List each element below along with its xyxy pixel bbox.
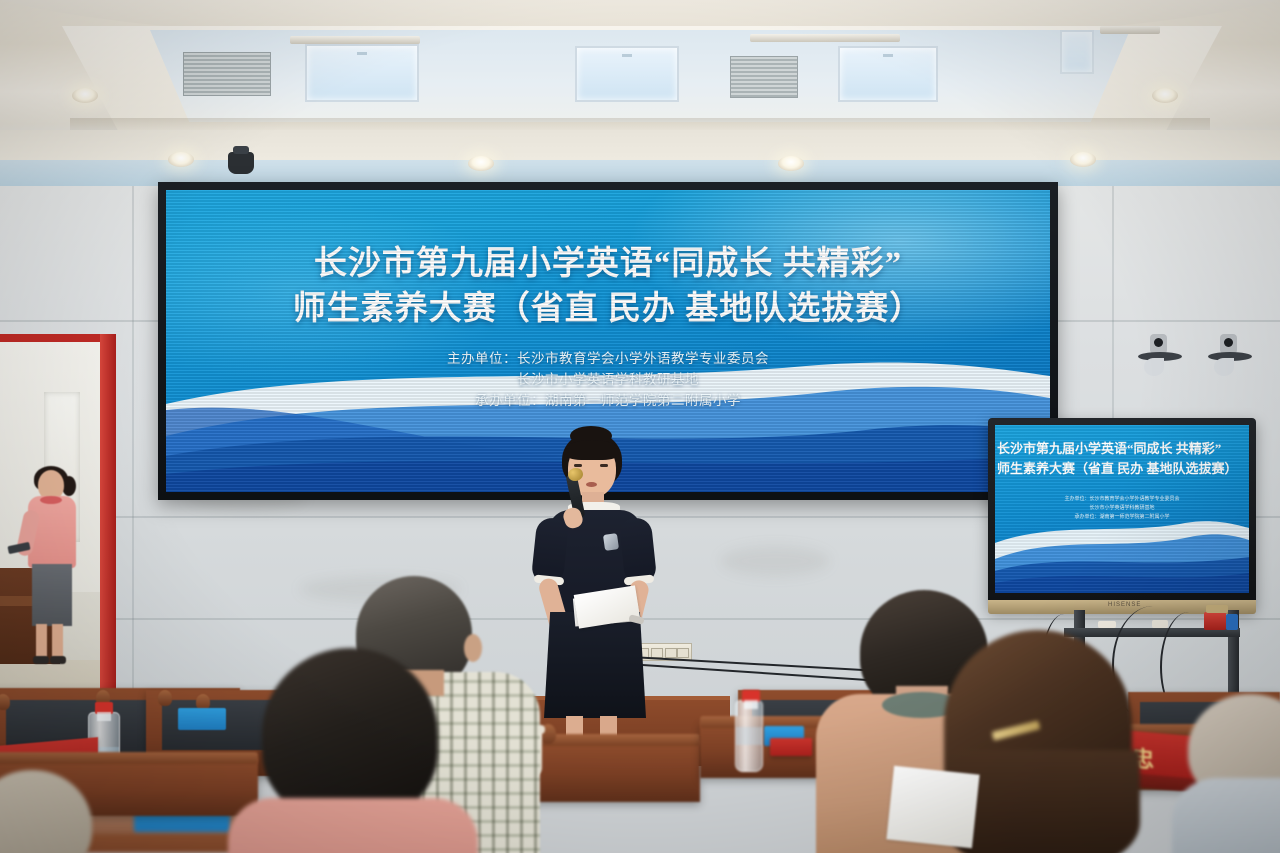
ceiling-strip-light <box>750 34 900 42</box>
collar <box>40 496 62 504</box>
audience-member-dark-bob <box>252 648 462 853</box>
ceiling-downlight <box>168 152 194 167</box>
tv-slide-subtitle-line1: 主办单位：长沙市教育学会小学外语教学专业委员会 <box>995 495 1249 504</box>
slide-subtitle-line3: 承办单位：湖南第一师范学院第二附属小学 <box>166 390 1050 411</box>
tv-slide-title-line2: 师生素养大赛（省直 民办 基地队选拔赛） <box>997 459 1249 479</box>
tv-slide-subtitle-line2: 长沙市小学英语学科教研基地 <box>995 504 1249 513</box>
presenter-mouth <box>586 482 597 487</box>
slide-subtitle: 主办单位：长沙市教育学会小学外语教学专业委员会 长沙市小学英语学科教研基地 承办… <box>166 348 1050 411</box>
tv-slide-title: 长沙市第九届小学英语“同成长 共精彩” 师生素养大赛（省直 民办 基地队选拔赛） <box>997 439 1249 479</box>
wall-vertical-seam <box>132 186 134 746</box>
bottle-neck <box>744 700 758 709</box>
slide-title-line1: 长沙市第九届小学英语“同成长 共精彩” <box>166 242 1050 287</box>
wall-speaker-icon <box>1208 334 1252 378</box>
tv-slide-subtitle-line3: 承办单位：湖南第一师范学院第二附属小学 <box>995 513 1249 522</box>
leg <box>36 624 47 658</box>
tv-slide-title-line1: 长沙市第九届小学英语“同成长 共精彩” <box>997 439 1249 459</box>
ceiling-panel-light <box>1060 30 1094 74</box>
shoulders <box>1172 778 1280 853</box>
head <box>0 770 92 853</box>
tv-wave-graphic <box>995 515 1249 593</box>
person-in-doorway <box>22 470 82 670</box>
water-bottle <box>735 700 763 772</box>
shoe <box>50 656 66 664</box>
wall-smudge <box>720 546 830 576</box>
tv-slide-subtitle: 主办单位：长沙市教育学会小学外语教学专业委员会 长沙市小学英语学科教研基地 承办… <box>995 495 1249 522</box>
presenter-eye <box>574 464 582 467</box>
slide-subtitle-line1: 主办单位：长沙市教育学会小学外语教学专业委员会 <box>166 348 1050 369</box>
shelf-item-card <box>1206 605 1228 613</box>
audience-member-far-right <box>1188 694 1280 853</box>
ceiling-projector-icon <box>228 152 254 174</box>
ceiling-panel-light <box>575 46 679 102</box>
ceiling-downlight <box>72 88 98 103</box>
leg <box>52 624 63 658</box>
desk-knob <box>158 690 172 706</box>
photo-scene: 长沙市第九届小学英语“同成长 共精彩” 师生素养大赛（省直 民办 基地队选拔赛）… <box>0 0 1280 853</box>
blue-folder <box>178 708 226 730</box>
desk-rail <box>0 752 258 764</box>
presenter-skirt <box>544 612 646 718</box>
desk-knob <box>0 694 10 710</box>
side-tv-screen[interactable]: 长沙市第九届小学英语“同成长 共精彩” 师生素养大赛（省直 民办 基地队选拔赛）… <box>995 425 1249 593</box>
hair-bun <box>62 476 76 496</box>
bottle-label <box>736 727 762 745</box>
ceiling-strip-light <box>1100 26 1160 34</box>
name-plate-mid-small <box>770 738 812 756</box>
head <box>262 648 438 820</box>
ac-vent-icon <box>730 56 798 98</box>
ac-vent-icon <box>183 52 271 96</box>
ceiling-downlight <box>778 156 804 171</box>
ear <box>464 634 482 662</box>
presenter <box>508 430 688 740</box>
ceiling-panel-light <box>838 46 938 102</box>
skirt <box>32 564 72 626</box>
shoe <box>33 656 49 664</box>
tv-brand-label: HISENSE <box>1108 602 1141 608</box>
wall-speaker-icon <box>1138 334 1182 378</box>
slide-subtitle-line2: 长沙市小学英语学科教研基地 <box>166 369 1050 390</box>
shelf-item-remote <box>1098 621 1116 628</box>
presenter-brooch-icon <box>603 533 619 551</box>
paper-on-desk <box>886 766 979 849</box>
slide-title: 长沙市第九届小学英语“同成长 共精彩” 师生素养大赛（省直 民办 基地队选拔赛） <box>166 242 1050 332</box>
bottle-neck <box>97 712 111 721</box>
ceiling-strip-light <box>290 36 420 44</box>
ceiling-downlight <box>468 156 494 171</box>
ceiling <box>0 0 1280 200</box>
presenter-fringe <box>565 440 619 460</box>
presenter-eye <box>600 464 608 467</box>
audience-member-far-left <box>0 770 102 853</box>
shelf-item-blue-box <box>1226 614 1238 630</box>
ceiling-downlight <box>1070 152 1096 167</box>
ceiling-panel-light <box>305 44 419 102</box>
shoulders-pink-top <box>228 798 478 853</box>
slide-title-line2: 师生素养大赛（省直 民办 基地队选拔赛） <box>166 287 1050 332</box>
ceiling-downlight <box>1152 88 1178 103</box>
